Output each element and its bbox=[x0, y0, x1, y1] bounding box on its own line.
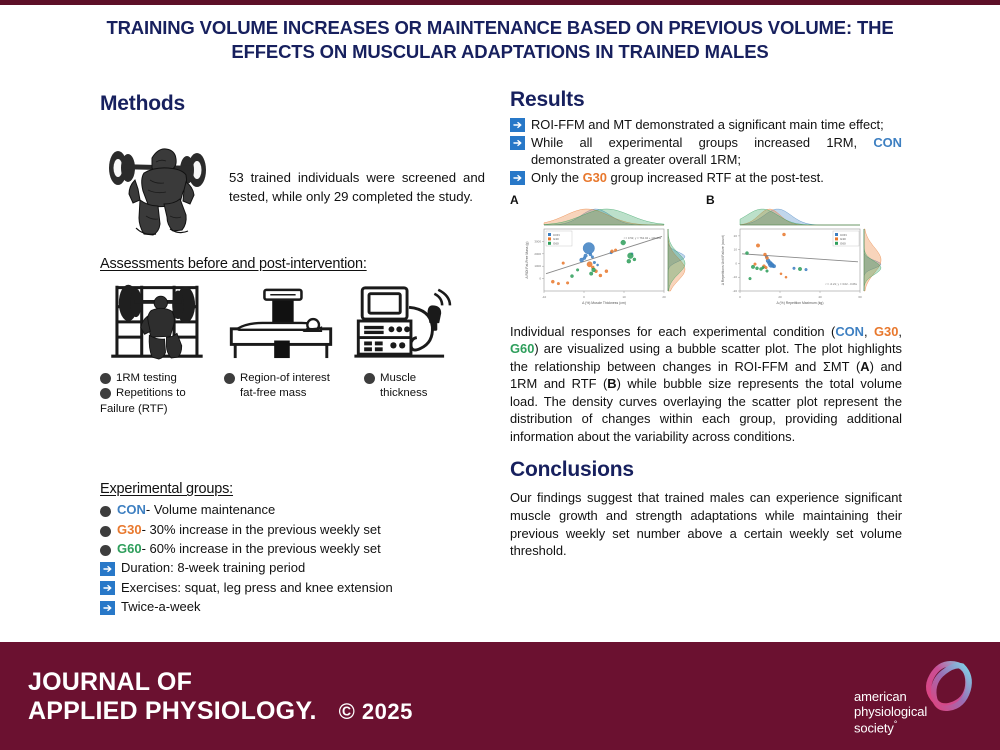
group-tag: CON bbox=[117, 502, 146, 517]
svg-text:Δ (%) Muscle Thickness (cm): Δ (%) Muscle Thickness (cm) bbox=[582, 301, 626, 305]
svg-text:r = 0.52; y = 762.04 + 116.85x: r = 0.52; y = 762.04 + 116.85x bbox=[624, 236, 662, 240]
svg-text:G60: G60 bbox=[553, 241, 559, 245]
journal-name-line2: APPLIED PHYSIOLOGY. bbox=[28, 697, 317, 726]
assessment-label: Repetitions to bbox=[116, 386, 186, 401]
experimental-group-text: Duration: 8-week training period bbox=[121, 560, 305, 577]
bullet-dot-icon bbox=[364, 373, 375, 384]
assessment-labels-row: 1RM testing Repetitions to Failure (RTF)… bbox=[100, 371, 485, 417]
svg-text:0: 0 bbox=[539, 276, 541, 280]
bullet-dot-icon bbox=[224, 373, 235, 384]
svg-text:-10: -10 bbox=[542, 295, 547, 299]
top-accent-stripe bbox=[0, 0, 1000, 5]
arrow-right-icon bbox=[100, 581, 115, 595]
svg-text:Δ (%) Repetition Maximum (kg): Δ (%) Repetition Maximum (kg) bbox=[777, 301, 824, 305]
assessments-heading: Assessments before and post-intervention… bbox=[100, 256, 485, 272]
assessment-label-group-1: Region-of interest fat-free mass bbox=[224, 371, 358, 417]
footer-bar: JOURNAL OF APPLIED PHYSIOLOGY. © 2025 bbox=[0, 642, 1000, 750]
experimental-group-item: Twice-a-week bbox=[100, 599, 485, 616]
methods-column: Methods bbox=[100, 92, 485, 619]
assessment-label-continuation: fat-free mass bbox=[240, 386, 358, 401]
group-tag: G60 bbox=[117, 541, 142, 556]
experimental-group-item: G60- 60% increase in the previous weekly… bbox=[100, 541, 485, 558]
experimental-groups-list: CON- Volume maintenanceG30- 30% increase… bbox=[100, 502, 485, 616]
assessment-label-continuation: Failure (RTF) bbox=[100, 402, 218, 417]
assessment-label-continuation: thickness bbox=[380, 386, 464, 401]
experimental-group-text: Twice-a-week bbox=[121, 599, 200, 616]
results-column: Results ROI-FFM and MT demonstrated a si… bbox=[510, 88, 902, 560]
svg-text:G30: G30 bbox=[553, 237, 559, 241]
figure-panels: A -10010200100020003000Δ (%) Muscle Thic… bbox=[510, 195, 902, 313]
aps-line3: society° bbox=[854, 719, 927, 736]
ultrasound-machine-icon bbox=[350, 282, 468, 365]
result-bullet-text: Only the G30 group increased RTF at the … bbox=[531, 169, 902, 186]
svg-text:60: 60 bbox=[858, 295, 862, 299]
svg-text:CON: CON bbox=[553, 232, 560, 236]
experimental-group-text: G60- 60% increase in the previous weekly… bbox=[117, 541, 381, 558]
result-bullet: While all experimental groups increased … bbox=[510, 134, 902, 168]
methods-summary-text: 53 trained individuals were screened and… bbox=[229, 168, 485, 206]
result-bullet: ROI-FFM and MT demonstrated a significan… bbox=[510, 116, 902, 133]
group-tag: G30 bbox=[117, 522, 142, 537]
svg-text:0: 0 bbox=[735, 261, 737, 265]
result-bullet-text: While all experimental groups increased … bbox=[531, 134, 902, 168]
experimental-group-item: Exercises: squat, leg press and knee ext… bbox=[100, 580, 485, 597]
experimental-group-text: Exercises: squat, leg press and knee ext… bbox=[121, 580, 393, 597]
assessment-label-group-0: 1RM testing Repetitions to Failure (RTF) bbox=[100, 371, 218, 417]
experimental-group-item: G30- 30% increase in the previous weekly… bbox=[100, 522, 485, 539]
experimental-groups-section: Experimental groups: CON- Volume mainten… bbox=[100, 481, 485, 616]
aps-line1: american bbox=[854, 689, 927, 704]
svg-text:10: 10 bbox=[622, 295, 626, 299]
methods-heading: Methods bbox=[100, 92, 485, 116]
experimental-group-text: CON- Volume maintenance bbox=[117, 502, 275, 519]
aps-wordmark: american physiological society° bbox=[854, 689, 927, 736]
svg-text:CON: CON bbox=[840, 232, 847, 236]
svg-text:2000: 2000 bbox=[534, 251, 541, 255]
methods-summary-row: 53 trained individuals were screened and… bbox=[100, 128, 485, 238]
scatter-plot-b: 0204060-20-1001020Δ (%) Repetition Maxim… bbox=[714, 203, 896, 316]
result-bullet: Only the G30 group increased RTF at the … bbox=[510, 169, 902, 186]
svg-text:20: 20 bbox=[662, 295, 666, 299]
journal-logo: JOURNAL OF APPLIED PHYSIOLOGY. © 2025 bbox=[28, 668, 413, 725]
arrow-right-icon bbox=[510, 118, 525, 132]
figure-caption: Individual responses for each experiment… bbox=[510, 323, 902, 446]
assessment-label: Region-of interest bbox=[240, 371, 330, 386]
arrow-right-icon bbox=[510, 171, 525, 185]
squat-rack-icon bbox=[100, 280, 212, 365]
bullet-dot-icon bbox=[100, 388, 111, 399]
svg-text:1000: 1000 bbox=[534, 264, 541, 268]
svg-text:-20: -20 bbox=[733, 289, 738, 293]
assessment-icons-row bbox=[100, 280, 485, 365]
svg-text:0: 0 bbox=[739, 295, 741, 299]
svg-text:20: 20 bbox=[778, 295, 782, 299]
arrow-right-icon bbox=[100, 601, 115, 615]
copyright-text: © 2025 bbox=[339, 699, 413, 724]
arrow-right-icon bbox=[510, 136, 525, 150]
bullet-dot-icon bbox=[100, 373, 111, 384]
barbell-squat-lifter-icon bbox=[100, 128, 215, 238]
svg-text:20: 20 bbox=[734, 234, 738, 238]
conclusions-heading: Conclusions bbox=[510, 458, 902, 482]
bullet-dot-icon bbox=[100, 545, 111, 556]
experimental-group-text: G30- 30% increase in the previous weekly… bbox=[117, 522, 381, 539]
svg-text:G30: G30 bbox=[840, 237, 846, 241]
svg-text:40: 40 bbox=[818, 295, 822, 299]
svg-text:Δ Repetitions Until Failure (c: Δ Repetitions Until Failure (count) bbox=[721, 234, 725, 285]
bullet-dot-icon bbox=[100, 506, 111, 517]
bullet-dot-icon bbox=[100, 526, 111, 537]
assessment-label: Muscle bbox=[380, 371, 416, 386]
experimental-group-item: CON- Volume maintenance bbox=[100, 502, 485, 519]
svg-text:-10: -10 bbox=[733, 275, 738, 279]
experimental-group-item: Duration: 8-week training period bbox=[100, 560, 485, 577]
assessment-label: 1RM testing bbox=[116, 371, 177, 386]
page-title: TRAINING VOLUME INCREASES OR MAINTENANCE… bbox=[100, 16, 900, 65]
assessment-label-group-2: Muscle thickness bbox=[364, 371, 464, 417]
american-physiological-society-logo: american physiological society° bbox=[850, 656, 982, 742]
svg-text:r = -0.21; y = 3.02 - 0.06x: r = -0.21; y = 3.02 - 0.06x bbox=[826, 282, 858, 286]
svg-text:3000: 3000 bbox=[534, 239, 541, 243]
results-bullet-list: ROI-FFM and MT demonstrated a significan… bbox=[510, 116, 902, 187]
experimental-groups-heading: Experimental groups: bbox=[100, 481, 485, 497]
result-bullet-text: ROI-FFM and MT demonstrated a significan… bbox=[531, 116, 902, 133]
results-heading: Results bbox=[510, 88, 902, 112]
journal-name-line1: JOURNAL OF bbox=[28, 668, 413, 697]
svg-text:0: 0 bbox=[583, 295, 585, 299]
arrow-right-icon bbox=[100, 562, 115, 576]
svg-text:10: 10 bbox=[734, 247, 738, 251]
poster-root: TRAINING VOLUME INCREASES OR MAINTENANCE… bbox=[0, 0, 1000, 750]
dxa-scanner-icon bbox=[222, 284, 340, 365]
svg-text:Δ ROI Fat-Free Mass (g): Δ ROI Fat-Free Mass (g) bbox=[525, 241, 529, 278]
scatter-plot-a: -10010200100020003000Δ (%) Muscle Thickn… bbox=[518, 203, 700, 316]
svg-text:G60: G60 bbox=[840, 241, 846, 245]
aps-line2: physiological bbox=[854, 704, 927, 719]
conclusions-text: Our findings suggest that trained males … bbox=[510, 489, 902, 559]
